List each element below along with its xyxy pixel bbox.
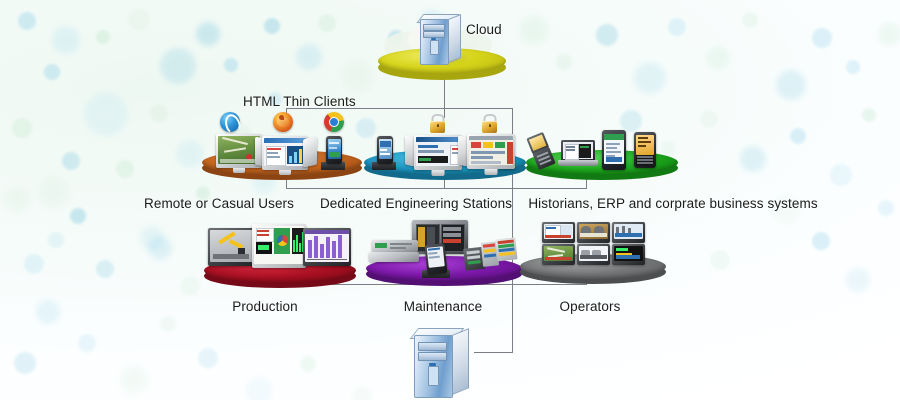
label-cloud: Cloud — [466, 22, 502, 37]
padlock-icon — [430, 114, 445, 133]
device-monitor-dashboard — [262, 136, 308, 170]
padlock-icon — [482, 114, 497, 133]
node-operators[interactable] — [520, 222, 670, 284]
node-production[interactable] — [202, 224, 362, 286]
device-smartphone — [377, 136, 393, 164]
label-production: Production — [232, 299, 298, 314]
chrome-icon — [324, 112, 344, 132]
device-industrial-pc-left-2 — [369, 252, 419, 262]
label-maintenance: Maintenance — [404, 299, 482, 314]
device-io-modules — [463, 237, 520, 272]
device-laptop — [558, 140, 598, 168]
label-operators: Operators — [560, 299, 621, 314]
label-historians-erp: Historians, ERP and corprate business sy… — [528, 196, 817, 211]
video-wall-screen — [542, 244, 575, 265]
node-dedicated-engineering-stations[interactable] — [362, 112, 530, 180]
device-engineering-station-2 — [467, 134, 515, 169]
connector-cloud-drop — [444, 78, 445, 108]
server-tower-icon — [412, 14, 466, 66]
device-hmi-trend-chart — [303, 228, 351, 266]
firefox-icon — [273, 112, 293, 132]
node-cloud[interactable]: Cloud — [378, 14, 510, 80]
node-historians-erp[interactable] — [524, 112, 684, 180]
server-tower-icon — [404, 328, 478, 398]
video-wall-screen — [577, 244, 610, 265]
video-wall-screen — [577, 222, 610, 243]
device-engineering-station-1 — [414, 135, 462, 170]
node-maintenance[interactable] — [364, 220, 528, 286]
device-monitor-side-right — [303, 137, 317, 168]
device-smartphone — [326, 136, 342, 164]
device-qwerty-phone — [634, 132, 656, 168]
device-industrial-pc-left — [372, 240, 418, 252]
video-wall-screen — [612, 244, 645, 265]
internet-explorer-icon — [220, 112, 240, 132]
title-html-thin-clients: HTML Thin Clients — [243, 94, 356, 109]
device-rugged-handheld — [424, 243, 447, 275]
connector-historians-link — [512, 188, 587, 189]
device-operator-video-wall — [542, 222, 646, 266]
device-touchscreen-phone — [602, 130, 626, 170]
device-hmi-dashboard — [252, 224, 306, 268]
node-remote-casual-users[interactable] — [200, 112, 366, 180]
video-wall-screen — [612, 222, 645, 243]
node-bottom-server[interactable] — [404, 328, 484, 400]
connector-bus-mid — [286, 188, 513, 189]
diagram-canvas: Cloud HTML Thin Clients — [0, 0, 900, 400]
label-remote-casual-users: Remote or Casual Users — [144, 196, 294, 211]
device-hmi-robot-cell — [208, 228, 256, 266]
label-dedicated-engineering-stations: Dedicated Engineering Stations — [320, 196, 512, 211]
video-wall-screen — [542, 222, 575, 243]
